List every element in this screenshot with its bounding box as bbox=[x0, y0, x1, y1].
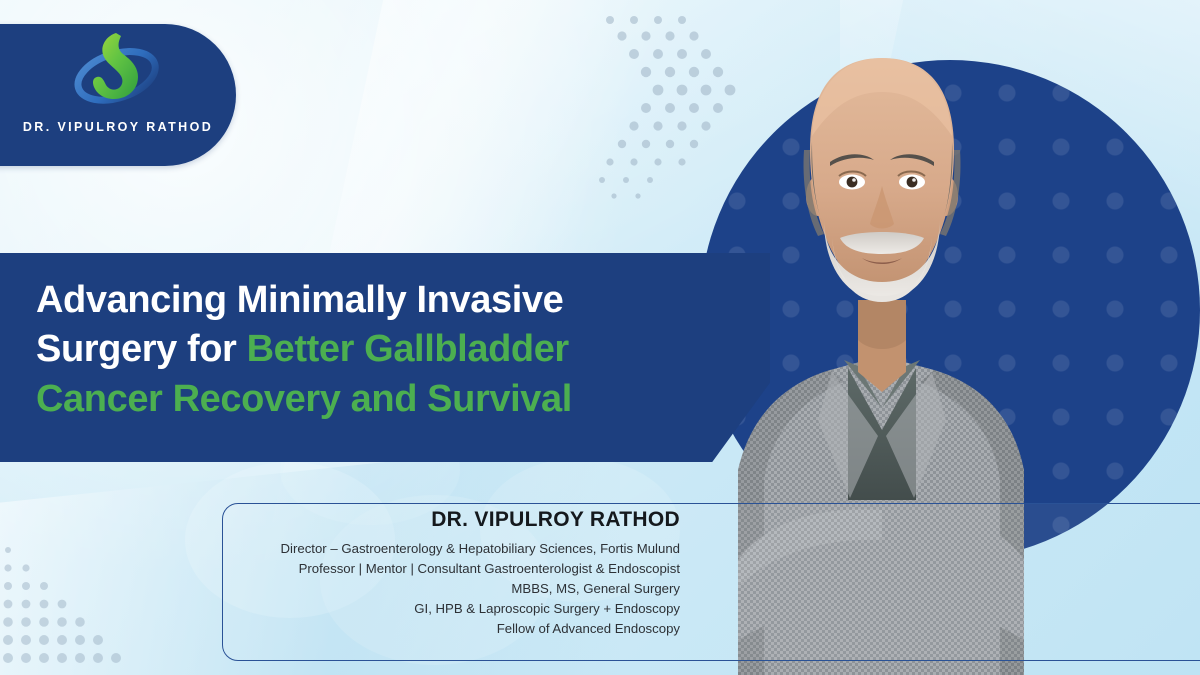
headline-line-1: Advancing Minimally Invasive bbox=[36, 276, 716, 325]
headline-line-3: Cancer Recovery and Survival bbox=[36, 375, 716, 424]
logo-badge[interactable]: DR. VIPULROY RATHOD bbox=[0, 24, 236, 166]
credential-line-2: Professor | Mentor | Consultant Gastroen… bbox=[222, 559, 680, 579]
credential-line-5: Fellow of Advanced Endoscopy bbox=[222, 619, 680, 639]
credentials-content: DR. VIPULROY RATHOD Director – Gastroent… bbox=[222, 508, 680, 639]
doctor-name: DR. VIPULROY RATHOD bbox=[222, 508, 680, 532]
credential-line-4: GI, HPB & Laproscopic Surgery + Endoscop… bbox=[222, 599, 680, 619]
logo-text: DR. VIPULROY RATHOD bbox=[23, 120, 213, 134]
headline-line-2-green: Better Gallbladder bbox=[247, 328, 569, 370]
headline-line-2: Surgery for Better Gallbladder bbox=[36, 325, 716, 374]
background-streak bbox=[250, 0, 670, 270]
polka-dot-overlay bbox=[700, 60, 1200, 560]
credential-line-3: MBBS, MS, General Surgery bbox=[222, 579, 680, 599]
credential-line-1: Director – Gastroenterology & Hepatobili… bbox=[222, 539, 680, 559]
portrait-backdrop-circle bbox=[700, 60, 1200, 560]
stomach-icon bbox=[68, 30, 164, 118]
dot-grid-pattern-bottom bbox=[0, 540, 230, 675]
headline: Advancing Minimally Invasive Surgery for… bbox=[36, 276, 716, 424]
headline-line-2-white: Surgery for bbox=[36, 328, 247, 370]
promotional-banner: DR. VIPULROY RATHOD Advancing Minimally … bbox=[0, 0, 1200, 675]
